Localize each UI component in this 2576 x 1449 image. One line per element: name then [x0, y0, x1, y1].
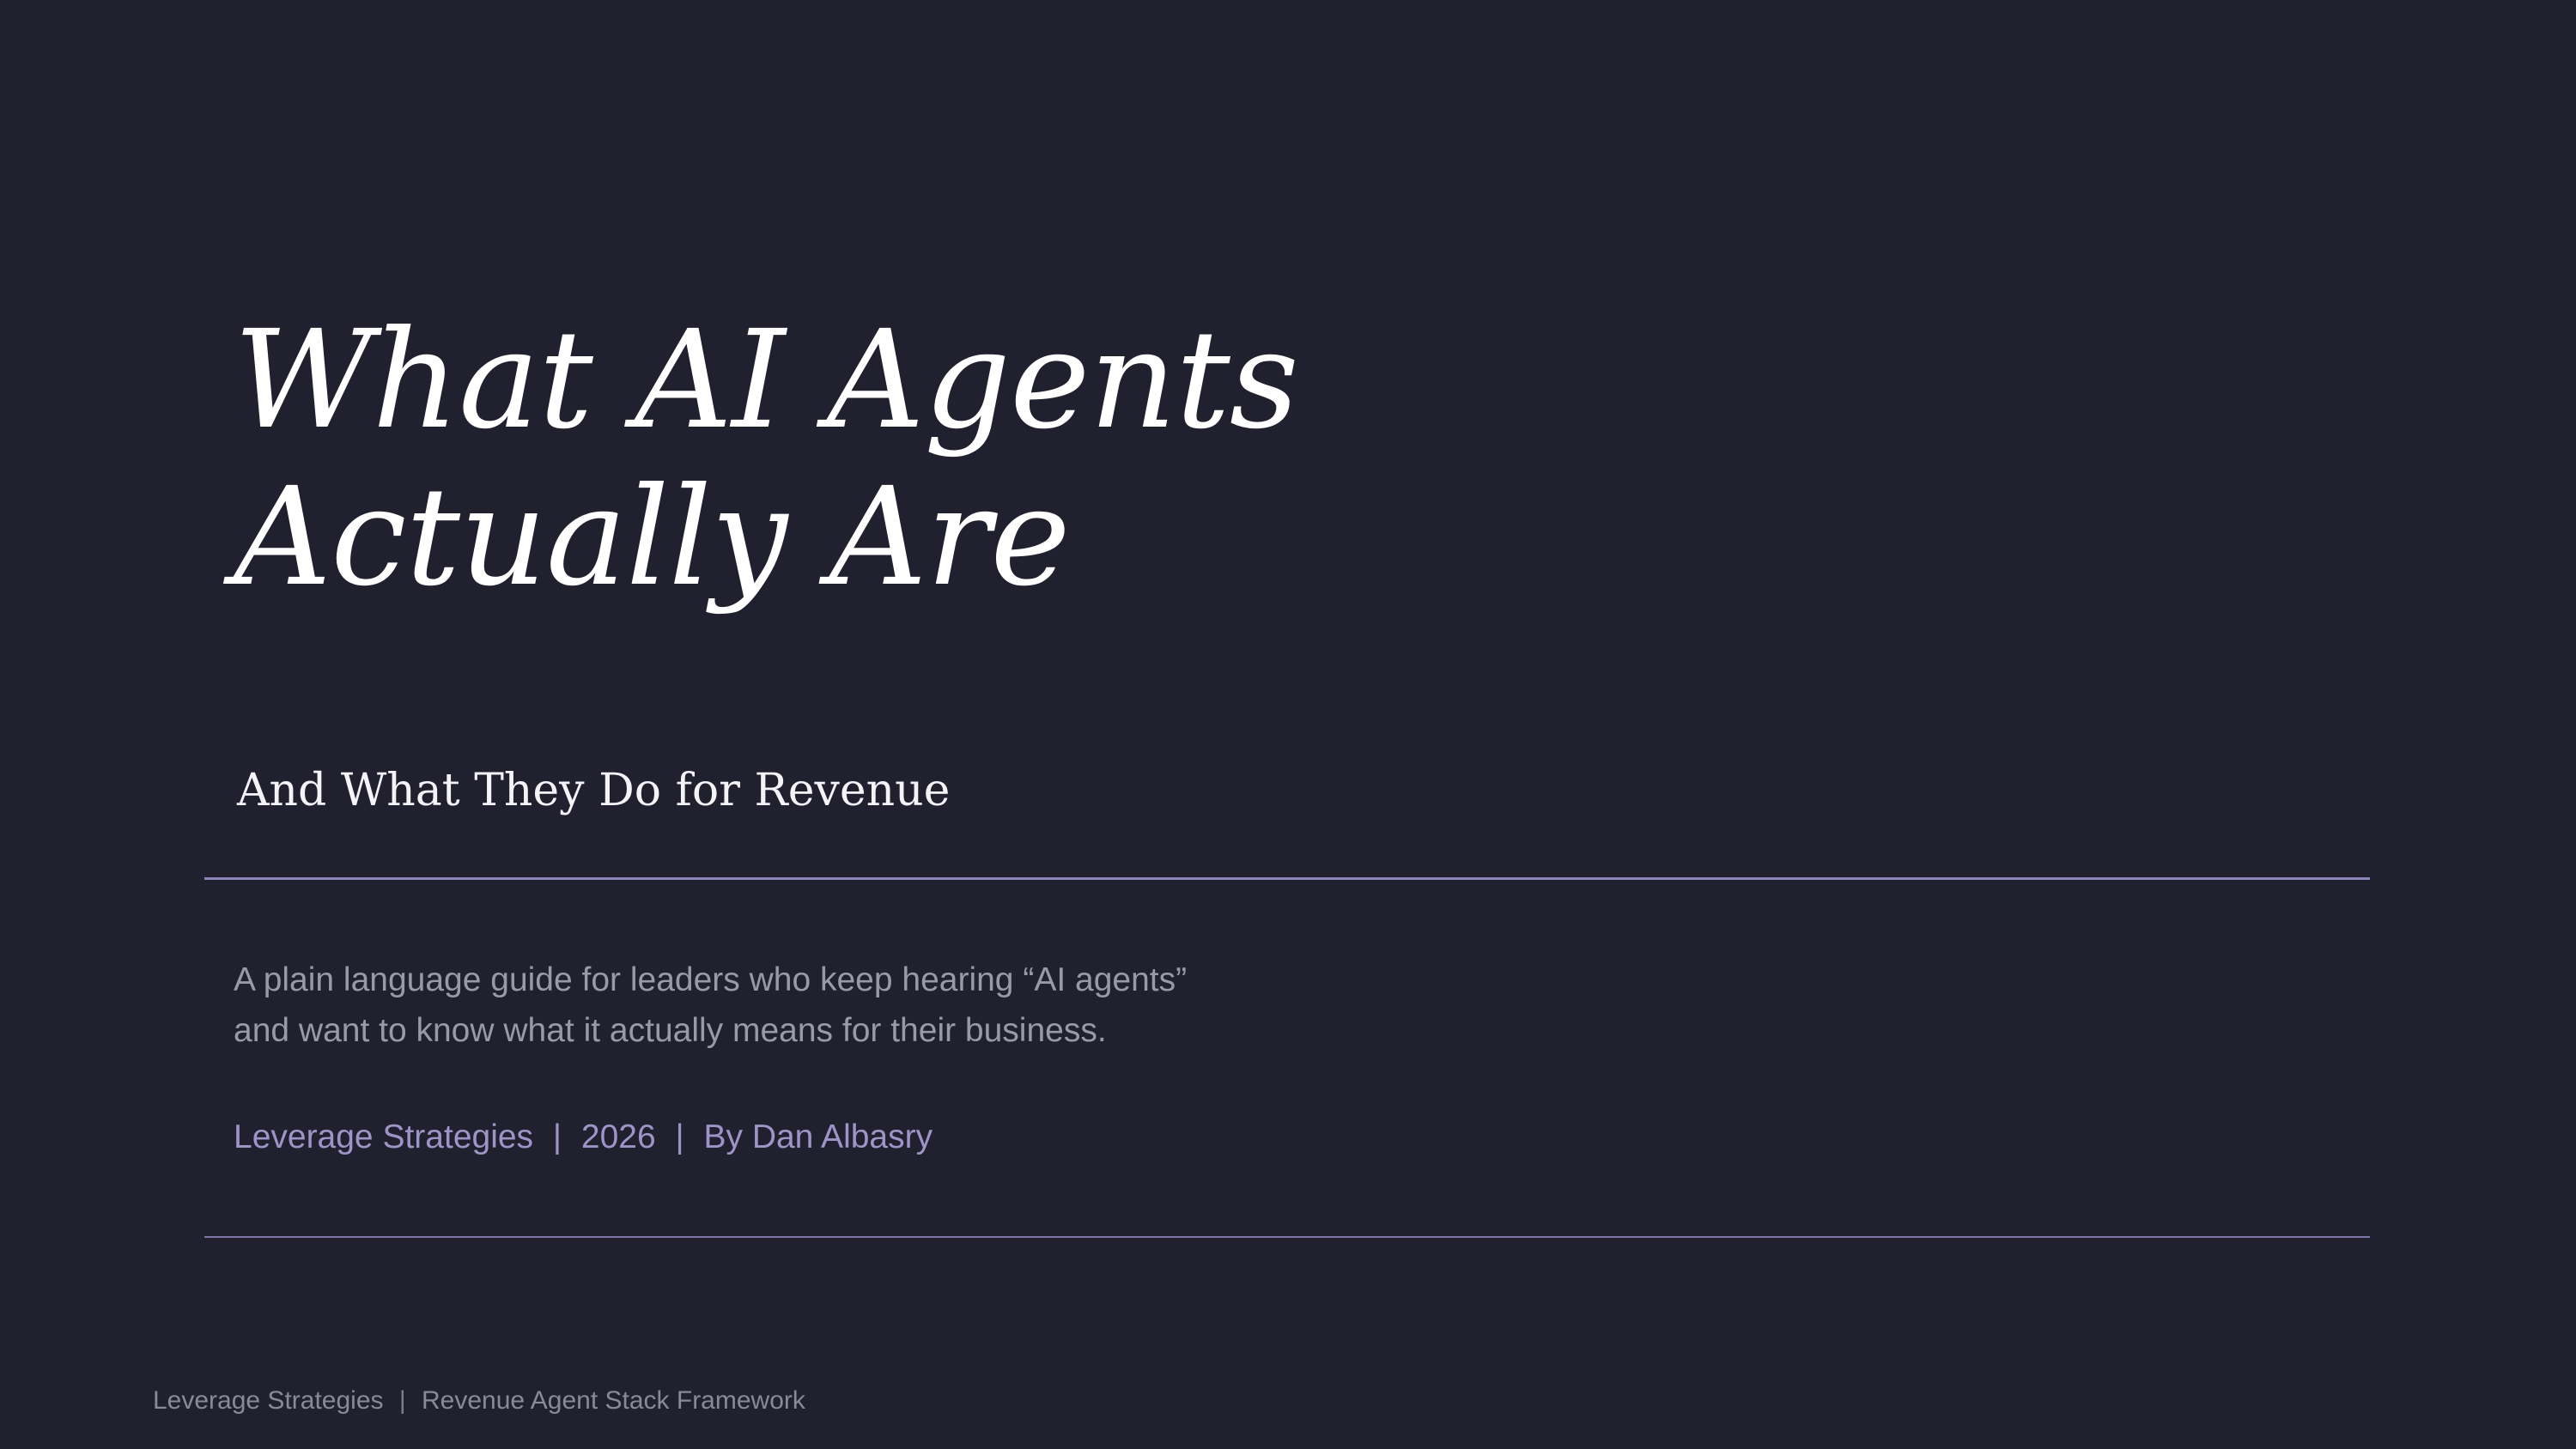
byline-separator-1: | — [543, 1119, 572, 1155]
page-title-line-2: Actually Are — [234, 459, 2037, 616]
slide-footer: Leverage Strategies | Revenue Agent Stac… — [153, 1384, 805, 1417]
byline-year: 2026 — [581, 1119, 656, 1155]
title-block: What AI Agents Actually Are — [234, 302, 2037, 617]
lead-paragraph: A plain language guide for leaders who k… — [234, 955, 1187, 1057]
lead-paragraph-line-1: A plain language guide for leaders who k… — [234, 955, 1187, 1005]
divider-bottom — [204, 1236, 2370, 1238]
byline: Leverage Strategies | 2026 | By Dan Alba… — [234, 1116, 933, 1160]
title-slide: What AI Agents Actually Are And What The… — [0, 0, 2576, 1449]
footer-framework: Revenue Agent Stack Framework — [422, 1386, 805, 1415]
lead-paragraph-line-2: and want to know what it actually means … — [234, 1005, 1187, 1056]
page-subtitle: And What They Do for Revenue — [237, 764, 950, 817]
divider-top — [204, 877, 2370, 880]
byline-separator-2: | — [665, 1119, 695, 1155]
page-title-line-1: What AI Agents — [234, 302, 2037, 459]
byline-author: By Dan Albasry — [703, 1119, 933, 1155]
footer-separator: | — [391, 1386, 415, 1415]
footer-org: Leverage Strategies — [153, 1386, 384, 1415]
byline-org: Leverage Strategies — [234, 1119, 533, 1155]
